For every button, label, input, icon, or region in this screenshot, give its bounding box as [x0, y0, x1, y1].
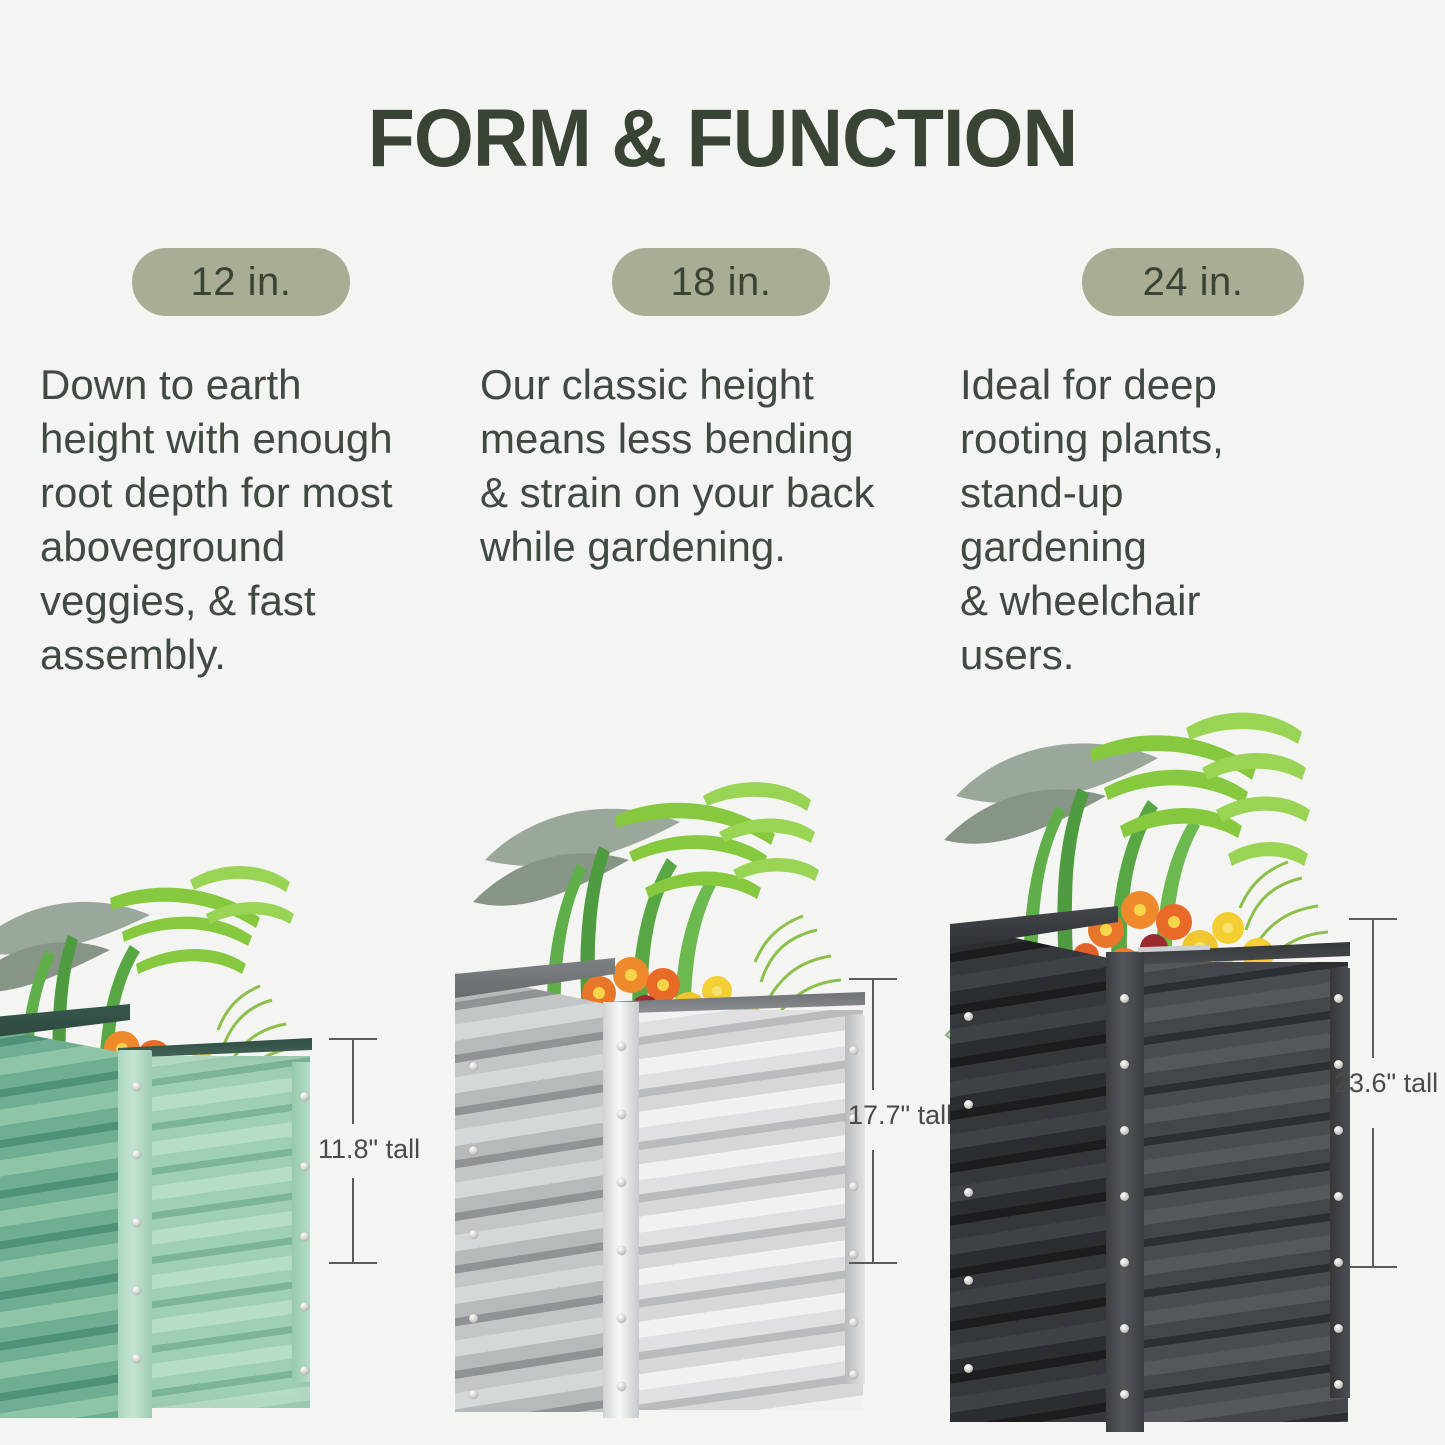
bed-side-panel-24in	[950, 924, 1118, 1422]
bed-corner-post-back-18in	[845, 1016, 865, 1384]
dimension-label-12in: 11.8" tall	[318, 1134, 420, 1165]
bed-rim-side-24in	[950, 906, 1118, 948]
bed-side-panel-18in	[455, 972, 615, 1412]
raised-bed-12in	[0, 1000, 340, 1445]
size-badge-24in[interactable]: 24 in.	[1082, 248, 1304, 316]
bed-front-panel-24in	[1118, 962, 1348, 1422]
feature-description-12in: Down to earth height with enough root de…	[40, 358, 420, 682]
feature-column-18in: 18 in. Our classic height means less ben…	[480, 248, 900, 574]
bed-front-panel-18in	[615, 1010, 863, 1410]
product-photo-18in	[455, 760, 875, 1445]
feature-column-24in: 24 in. Ideal for deep rooting plants, st…	[960, 248, 1330, 682]
dimension-label-24in: 23.6" tall	[1334, 1068, 1438, 1099]
raised-bed-24in	[950, 890, 1350, 1445]
bed-corner-post-back-24in	[1330, 968, 1350, 1398]
bed-corner-post-18in	[603, 1002, 639, 1418]
bed-front-panel-12in	[130, 1056, 310, 1408]
page-title: FORM & FUNCTION	[43, 92, 1401, 186]
dimension-label-18in: 17.7" tall	[848, 1100, 952, 1131]
feature-description-18in: Our classic height means less bending & …	[480, 358, 900, 574]
infographic-canvas: FORM & FUNCTION 12 in. Down to earth hei…	[0, 0, 1445, 1445]
feature-column-12in: 12 in. Down to earth height with enough …	[40, 248, 420, 682]
product-photo-24in	[940, 700, 1360, 1445]
bed-side-panel-12in	[0, 1018, 130, 1418]
size-badge-18in[interactable]: 18 in.	[612, 248, 830, 316]
feature-description-24in: Ideal for deep rooting plants, stand-up …	[960, 358, 1330, 682]
bed-corner-post-back-12in	[292, 1062, 310, 1382]
raised-bed-18in	[455, 950, 865, 1445]
size-badge-12in[interactable]: 12 in.	[132, 248, 350, 316]
